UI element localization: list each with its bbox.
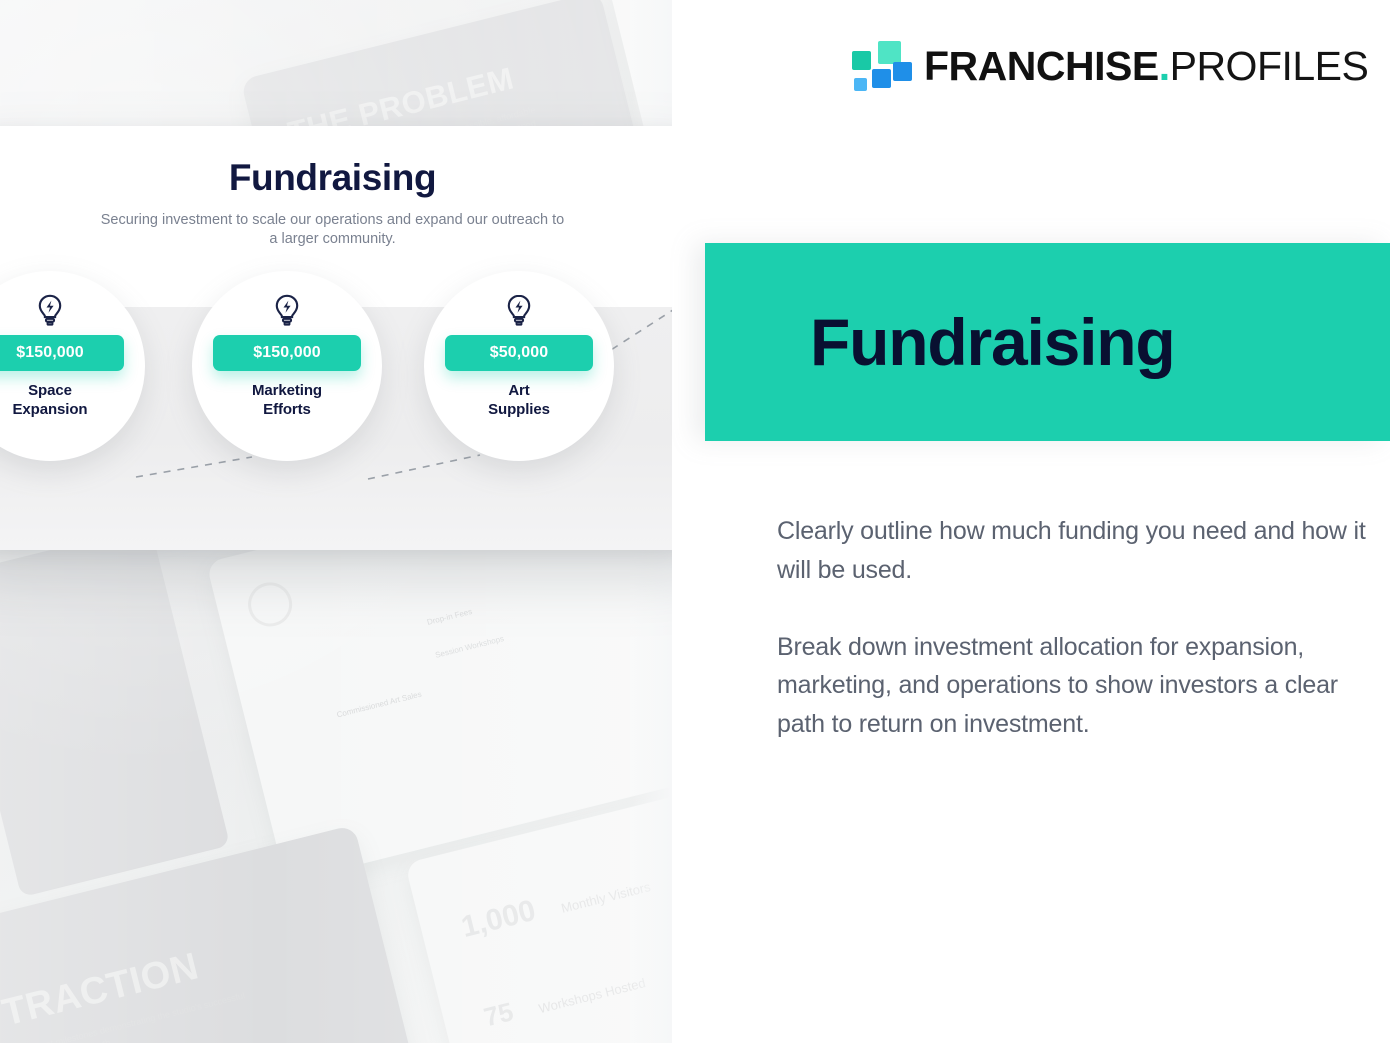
card-header: Fundraising Securing investment to scale… — [0, 126, 705, 249]
deck-gray-block-a — [0, 525, 230, 897]
node-label-line-1: Space — [28, 382, 72, 399]
section-description: Clearly outline how much funding you nee… — [777, 512, 1367, 744]
node-label-line-1: Marketing — [252, 382, 322, 399]
content-pane: FRANCHISE.PROFILES Fundraising Clearly o… — [672, 0, 1390, 1043]
node-label-line-1: Art — [508, 382, 529, 399]
node-label-line-2: Expansion — [13, 401, 88, 418]
node-amount-pill: $150,000 — [213, 335, 361, 371]
deck-stat-workshops-value: 75 — [481, 996, 517, 1033]
brand-logo[interactable]: FRANCHISE.PROFILES — [852, 40, 1368, 92]
brand-wordmark: FRANCHISE.PROFILES — [924, 46, 1368, 87]
section-title: Fundraising — [810, 304, 1174, 380]
squares-logo-icon — [852, 40, 906, 92]
node-amount-pill: $50,000 — [445, 335, 593, 371]
description-paragraph-2: Break down investment allocation for exp… — [777, 628, 1367, 744]
section-banner: Fundraising — [705, 243, 1390, 441]
dollar-circle-icon — [243, 578, 296, 631]
node-label: Space Expansion — [13, 381, 88, 419]
node-label: Marketing Efforts — [252, 381, 322, 419]
node-label: Art Supplies — [488, 381, 550, 419]
card-body: $150,000 Space Expansion $150,000 Market… — [0, 307, 705, 550]
fundraising-node-art-supplies[interactable]: $50,000 Art Supplies — [424, 271, 614, 461]
slide-canvas: COMPANY NAME investor pitch deck THE PRO… — [0, 0, 1390, 1043]
brand-name-light: PROFILES — [1170, 43, 1369, 89]
node-amount-pill: $150,000 — [0, 335, 124, 371]
lightbulb-bolt-icon — [270, 293, 304, 327]
fundraising-node-marketing-efforts[interactable]: $150,000 Marketing Efforts — [192, 271, 382, 461]
card-subtitle: Securing investment to scale our operati… — [98, 211, 568, 249]
card-title: Fundraising — [0, 158, 665, 199]
node-label-line-2: Efforts — [263, 401, 311, 418]
node-label-line-2: Supplies — [488, 401, 550, 418]
description-paragraph-1: Clearly outline how much funding you nee… — [777, 512, 1367, 590]
deck-stat-visitors-value: 1,000 — [458, 894, 539, 945]
lightbulb-bolt-icon — [502, 293, 536, 327]
brand-name-bold: FRANCHISE — [924, 43, 1159, 89]
banner-title-wrap: Fundraising — [705, 304, 1174, 380]
brand-dot: . — [1159, 43, 1170, 89]
lightbulb-bolt-icon — [33, 293, 67, 327]
fundraising-preview-card[interactable]: Fundraising Securing investment to scale… — [0, 126, 705, 550]
